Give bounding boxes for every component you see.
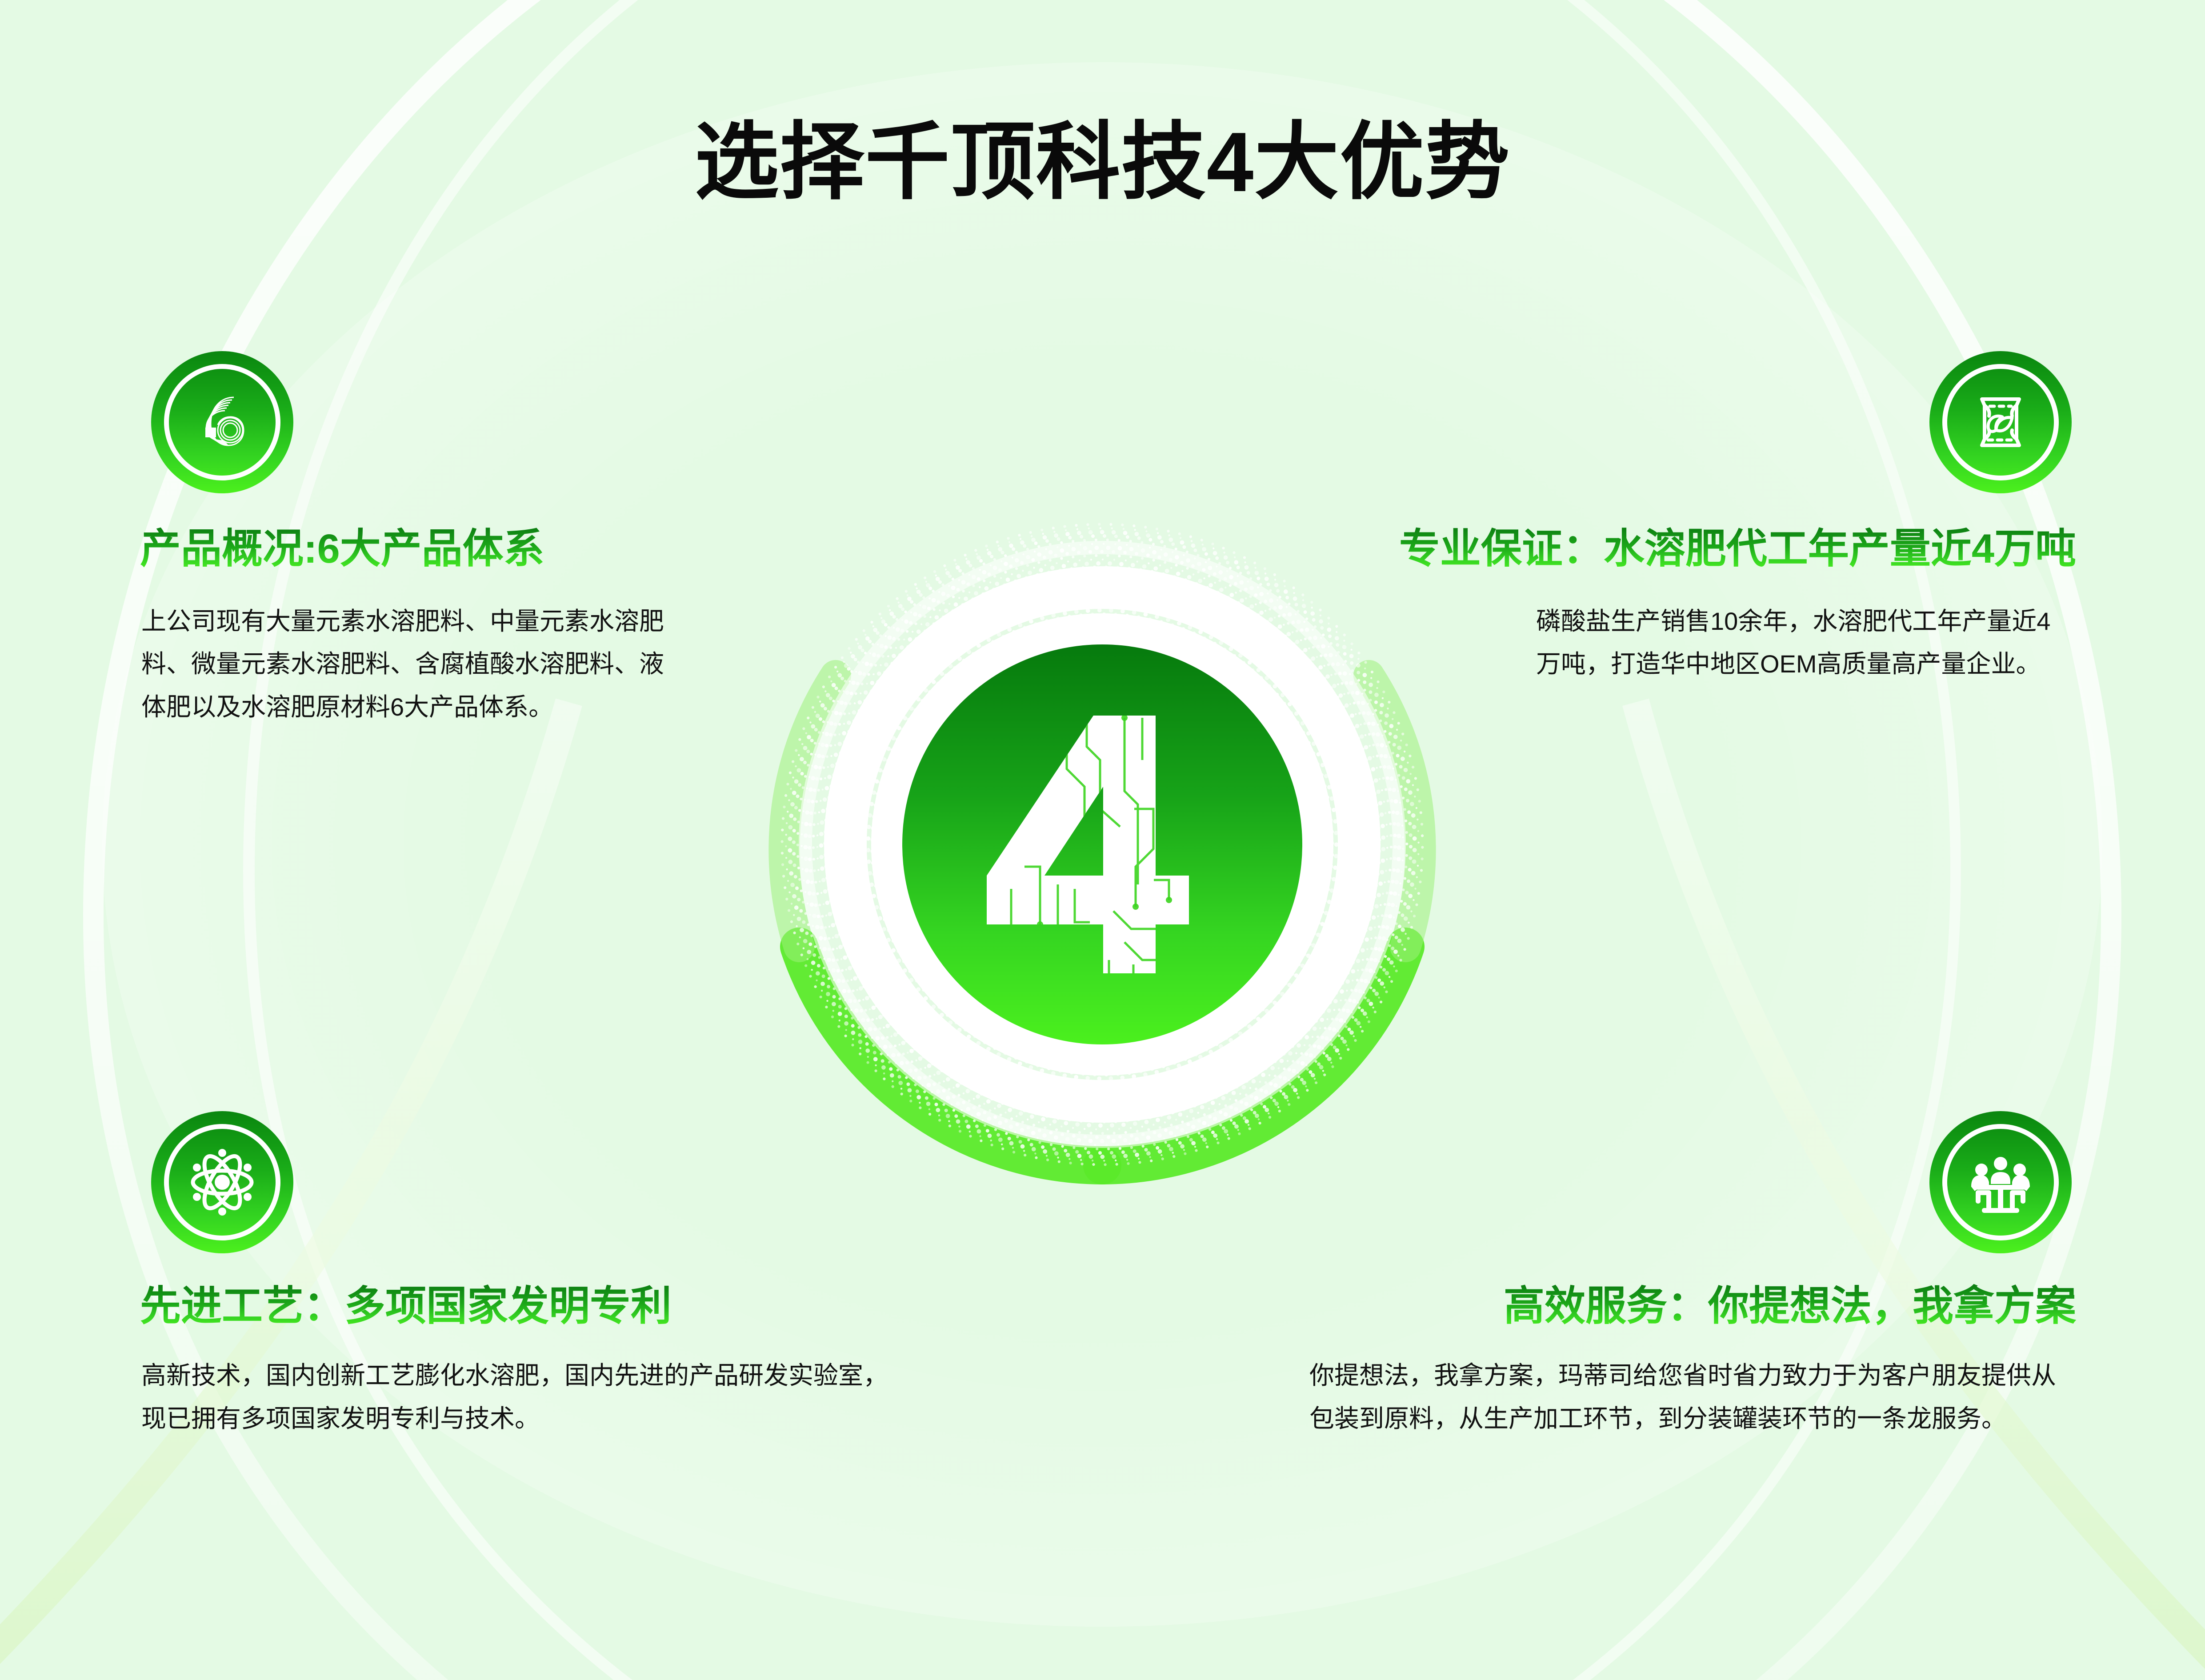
advantage-body-top-right: 磷酸盐生产销售10余年，水溶肥代工年产量近4万吨，打造华中地区OEM高质量高产量… <box>1536 600 2074 686</box>
meeting-people-icon <box>1956 1138 2045 1227</box>
advantage-icon-bottom-right[interactable] <box>1929 1111 2072 1253</box>
advantage-body-bottom-right: 你提想法，我拿方案，玛蒂司给您省时省力致力于为客户朋友提供从包装到原料，从生产加… <box>1309 1354 2074 1440</box>
fertilizer-bag-icon <box>1956 378 2045 467</box>
advantage-body-top-left: 上公司现有大量元素水溶肥料、中量元素水溶肥料、微量元素水溶肥料、含腐植酸水溶肥料… <box>141 600 675 728</box>
advantage-icon-bottom-left[interactable] <box>151 1111 293 1253</box>
center-number-four <box>933 676 1271 1013</box>
center-medallion <box>724 467 1480 1222</box>
advantage-icon-top-right[interactable] <box>1929 351 2072 493</box>
advantage-heading-bottom-left: 先进工艺：多项国家发明专利 <box>140 1284 672 1329</box>
advantage-heading-bottom-right: 高效服务：你提想法，我拿方案 <box>1504 1284 2076 1329</box>
atom-icon <box>178 1138 267 1227</box>
page-title: 选择千顶科技4大优势 <box>0 93 2205 216</box>
advantage-heading-top-right: 专业保证：水溶肥代工年产量近4万吨 <box>1399 527 2076 572</box>
advantage-heading-top-left: 产品概况:6大产品体系 <box>140 527 544 572</box>
number-six-circle-icon <box>178 378 267 467</box>
poster-stage: 选择千顶科技4大优势 <box>0 0 2205 1680</box>
advantage-icon-top-left[interactable] <box>151 351 293 493</box>
advantage-body-bottom-left: 高新技术，国内创新工艺膨化水溶肥，国内先进的产品研发实验室，现已拥有多项国家发明… <box>141 1354 888 1440</box>
